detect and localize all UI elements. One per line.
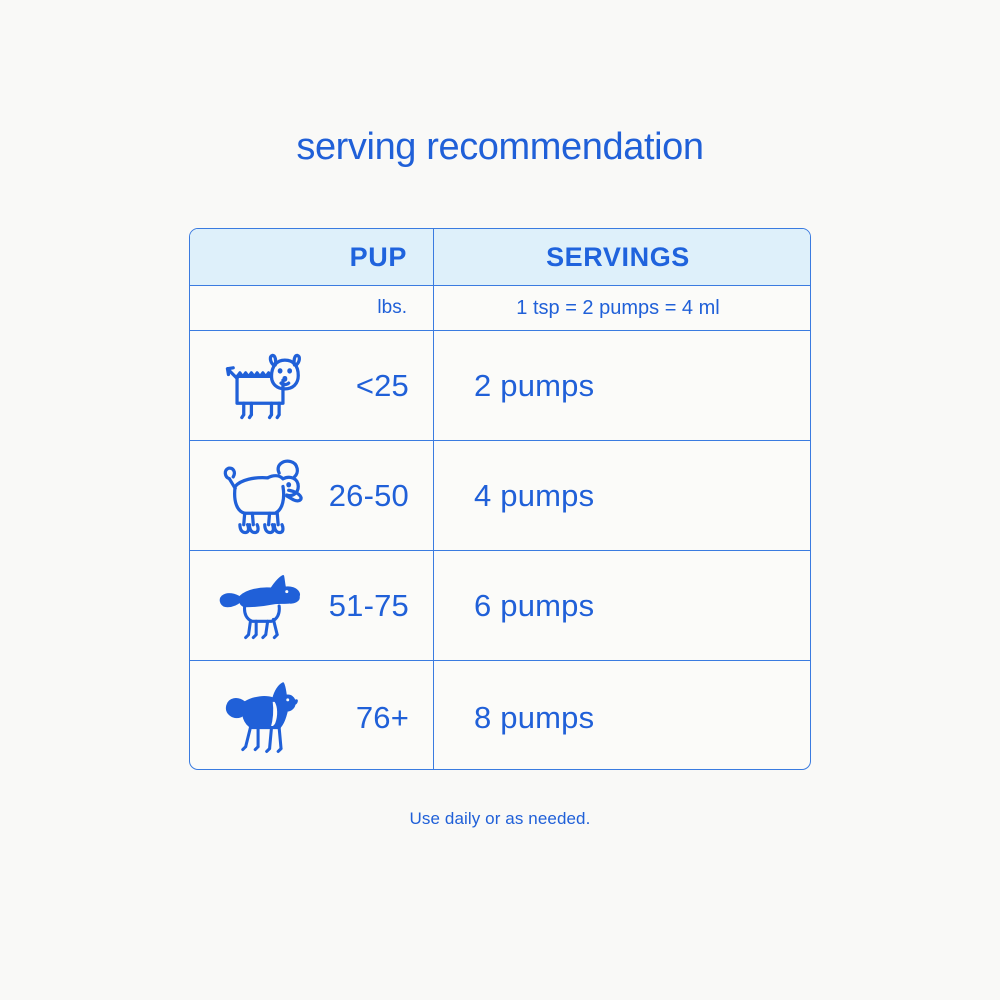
- table-row: 51-75 6 pumps: [190, 551, 810, 661]
- table-cell-servings: 4 pumps: [434, 441, 810, 550]
- table-row: 26-50 4 pumps: [190, 441, 810, 551]
- table-cell-servings: 6 pumps: [434, 551, 810, 660]
- husky-dog-icon: [212, 674, 308, 762]
- poodle-dog-icon: [212, 452, 308, 540]
- table-units-cell-pup: lbs.: [190, 286, 434, 330]
- shepherd-dog-icon: [212, 562, 308, 650]
- table-header-cell-servings: SERVINGS: [434, 229, 810, 285]
- footer-note: Use daily or as needed.: [0, 809, 1000, 829]
- serving-label: 8 pumps: [434, 700, 594, 736]
- column-header-servings: SERVINGS: [434, 242, 810, 273]
- table-cell-servings: 8 pumps: [434, 661, 810, 770]
- table-units-cell-servings: 1 tsp = 2 pumps = 4 ml: [434, 286, 810, 330]
- table-row: <25 2 pumps: [190, 331, 810, 441]
- table-cell-pup: 26-50: [190, 441, 434, 550]
- serving-recommendation-page: serving recommendation PUP SERVINGS lbs.…: [0, 0, 1000, 1000]
- table-cell-pup: 51-75: [190, 551, 434, 660]
- column-header-pup: PUP: [190, 242, 433, 273]
- table-header-row: PUP SERVINGS: [190, 229, 810, 286]
- units-label-lbs: lbs.: [190, 297, 433, 319]
- small-dog-icon: [212, 342, 308, 430]
- serving-label: 6 pumps: [434, 588, 594, 624]
- page-title: serving recommendation: [0, 128, 1000, 166]
- table-header-cell-pup: PUP: [190, 229, 434, 285]
- table-row: 76+ 8 pumps: [190, 661, 810, 770]
- table-cell-pup: 76+: [190, 661, 434, 770]
- serving-label: 2 pumps: [434, 368, 594, 404]
- table-cell-servings: 2 pumps: [434, 331, 810, 440]
- table-units-row: lbs. 1 tsp = 2 pumps = 4 ml: [190, 286, 810, 331]
- units-label-conversion: 1 tsp = 2 pumps = 4 ml: [434, 297, 810, 320]
- serving-label: 4 pumps: [434, 478, 594, 514]
- serving-recommendation-table: PUP SERVINGS lbs. 1 tsp = 2 pumps = 4 ml: [189, 228, 811, 770]
- table-cell-pup: <25: [190, 331, 434, 440]
